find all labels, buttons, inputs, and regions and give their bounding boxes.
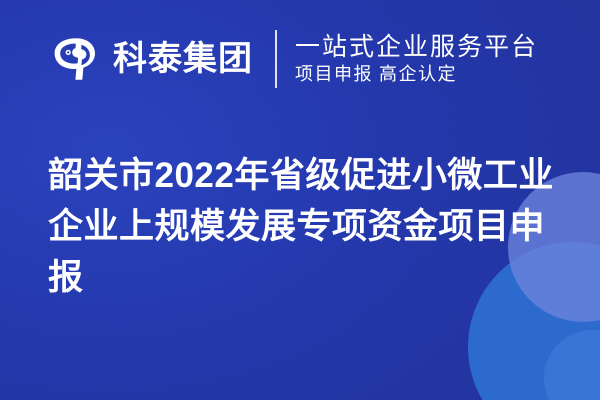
title-block: 韶关市2022年省级促进小微工业企业上规模发展专项资金项目申报 bbox=[48, 150, 564, 303]
header-divider bbox=[275, 30, 277, 88]
brand-name: 科泰集团 bbox=[113, 42, 253, 76]
slogan-secondary: 项目申报 高企认定 bbox=[295, 65, 538, 85]
promo-banner: 科泰集团 一站式企业服务平台 项目申报 高企认定 韶关市2022年省级促进小微工… bbox=[0, 0, 600, 400]
banner-header: 科泰集团 一站式企业服务平台 项目申报 高企认定 bbox=[0, 0, 600, 118]
ketai-logo-icon bbox=[52, 35, 100, 83]
brand-block: 科泰集团 bbox=[52, 35, 253, 83]
decorative-circle-small bbox=[544, 330, 600, 400]
page-title: 韶关市2022年省级促进小微工业企业上规模发展专项资金项目申报 bbox=[48, 150, 564, 303]
slogan-primary: 一站式企业服务平台 bbox=[295, 34, 538, 61]
slogan-block: 一站式企业服务平台 项目申报 高企认定 bbox=[295, 34, 538, 85]
